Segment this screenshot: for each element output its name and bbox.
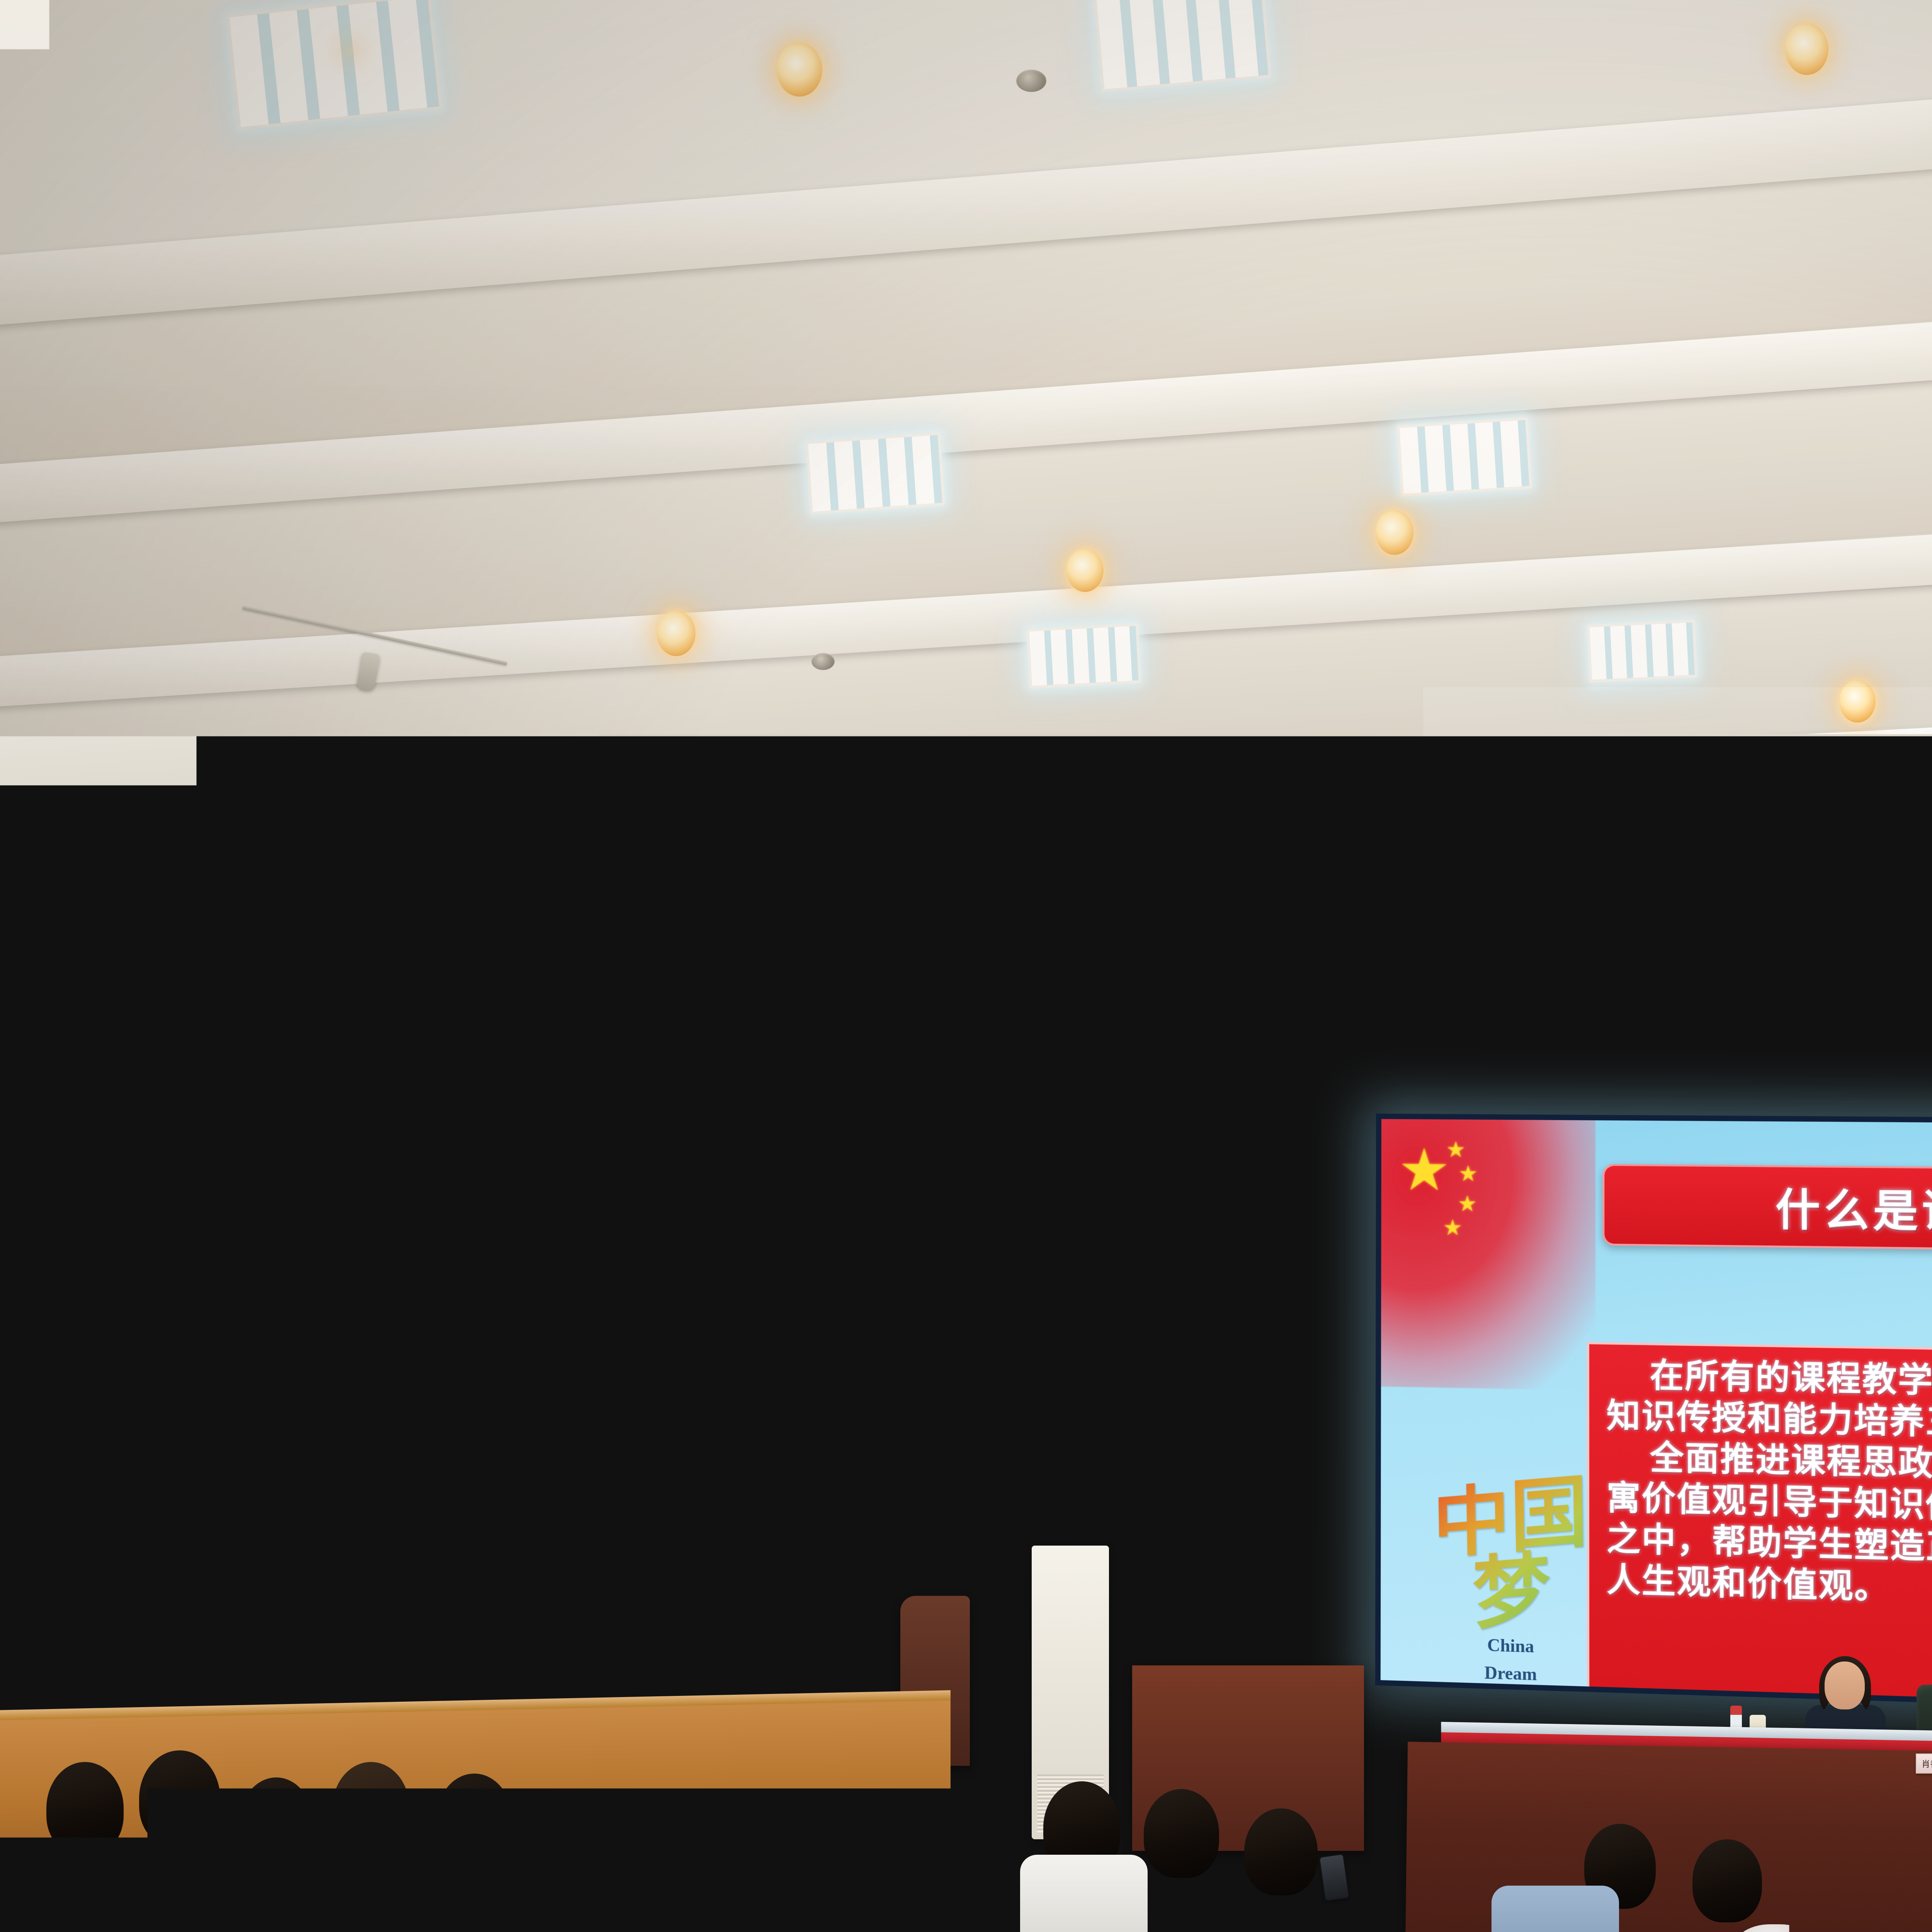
water-bottle <box>502 1824 524 1882</box>
slide-body-line: 人生观和价值观。 <box>1607 1560 1932 1620</box>
downlight-icon <box>777 43 822 97</box>
slide-title-banner: 什么是课程思政 <box>1602 1164 1932 1253</box>
china-dream-en-line2: Dream <box>1427 1661 1595 1687</box>
slide-body-block: 在所有的课程教学中将价值塑造、 知识传授和能力培养三者融为一体； 全面推进课程思… <box>1587 1342 1932 1718</box>
flag-small-star-icon: ★ <box>1458 1163 1478 1184</box>
curtain-dark-left <box>0 796 572 1692</box>
audience-head <box>1244 1808 1318 1895</box>
curtain-dark-stage-left <box>657 997 1121 1600</box>
thermos-cup <box>614 1843 636 1901</box>
smoke-detector-icon <box>1016 70 1046 92</box>
downlight-icon <box>657 611 696 656</box>
audience-head <box>1198 1924 1287 1932</box>
fluorescent-troffer-icon <box>805 432 945 515</box>
slide-title-text: 什么是课程思政 <box>1776 1175 1932 1242</box>
flag-small-star-icon: ★ <box>1446 1139 1465 1160</box>
audience-laptop <box>340 1839 413 1891</box>
china-dream-glyph: 中国梦 <box>1426 1473 1595 1635</box>
china-dream-logo: 中国梦 China Dream <box>1427 1479 1595 1687</box>
downlight-icon <box>1376 510 1413 555</box>
audience-head <box>139 1750 220 1847</box>
fluorescent-troffer-icon <box>1026 623 1141 689</box>
podium-nameplate: 肖香龙 <box>1916 1753 1932 1774</box>
smoke-detector-icon <box>811 653 835 670</box>
dais-front <box>1405 1742 1932 1932</box>
audience-phone[interactable] <box>83 1842 113 1890</box>
no-food-sign-line2: 场内禁止食用 <box>554 1571 605 1583</box>
fluorescent-troffer-icon <box>226 0 442 130</box>
flag-small-star-icon: ★ <box>1458 1193 1477 1215</box>
flag-big-star-icon: ★ <box>1398 1141 1450 1199</box>
audience-head <box>46 1762 124 1855</box>
audience-phone[interactable] <box>454 1815 483 1862</box>
flag-small-star-icon: ★ <box>1443 1217 1462 1239</box>
downlight-icon <box>1066 549 1104 592</box>
audience-torso <box>1492 1886 1619 1932</box>
audience-torso <box>1020 1855 1148 1932</box>
lecture-hall-photo: 食品、酒饮料 场内禁止食用 ★ ★ ★ ★ ★ 什么是课程思政 在所有的课程教学… <box>0 0 1932 1932</box>
no-food-sign-line1: 食品、酒饮料 <box>554 1557 605 1568</box>
fluorescent-troffer-icon <box>1587 619 1698 682</box>
fluorescent-troffer-icon <box>1397 417 1532 497</box>
audience-head <box>240 1777 313 1866</box>
audience-head <box>1692 1839 1762 1922</box>
wall-loudspeaker-icon <box>591 1240 707 1403</box>
no-food-drink-sign: 食品、酒饮料 场内禁止食用 <box>550 1546 609 1594</box>
projection-screen: ★ ★ ★ ★ ★ 什么是课程思政 在所有的课程教学中将价值塑造、 知识传授和能… <box>1375 1114 1932 1725</box>
fluorescent-troffer-icon <box>1094 0 1271 92</box>
downlight-icon <box>1839 680 1876 723</box>
downlight-icon <box>1785 23 1828 75</box>
audience-head <box>1144 1789 1219 1878</box>
speaker-head <box>1825 1662 1865 1709</box>
china-flag-graphic: ★ ★ ★ ★ ★ <box>1378 1117 1595 1390</box>
